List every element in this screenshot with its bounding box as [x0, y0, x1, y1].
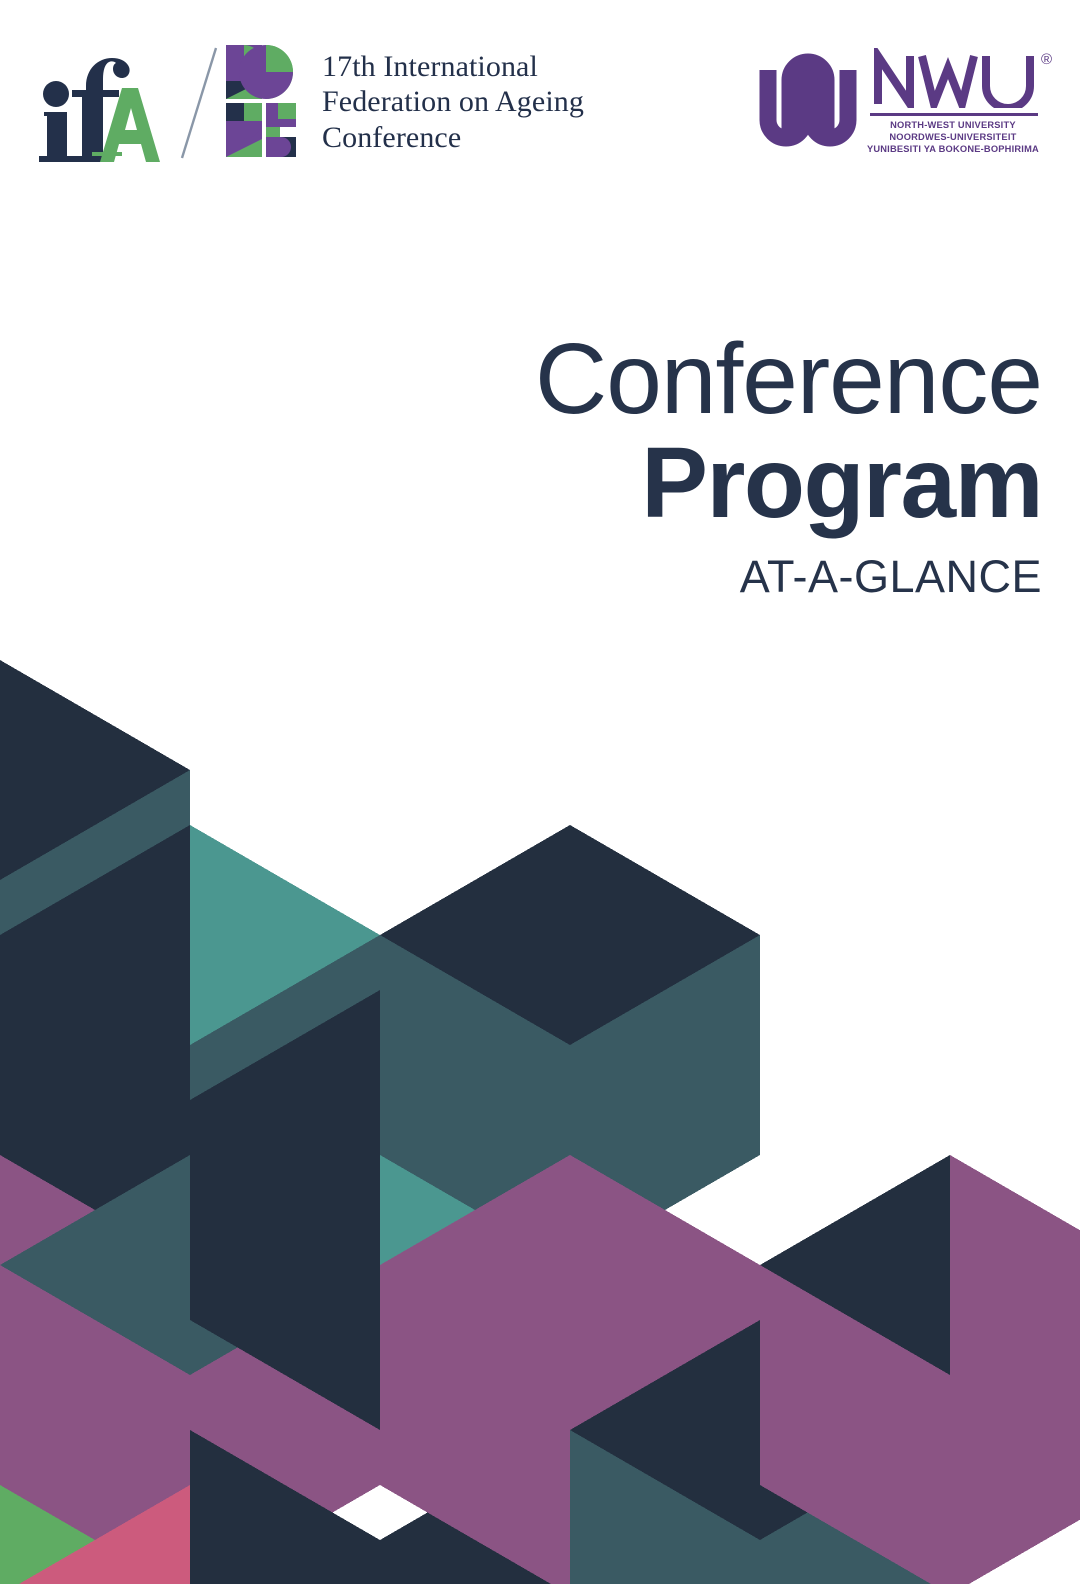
divider-slash-icon	[170, 42, 230, 162]
ifa-conference-title: 17th International Federation on Ageing …	[322, 49, 584, 154]
ifa-title-line-1: 17th International	[322, 49, 584, 84]
nwu-divider-rule	[870, 113, 1038, 116]
nwu-subtitle-line-2: NOORDWES-UNIVERSITEIT	[858, 132, 1048, 144]
page-header: 17th International Federation on Ageing …	[0, 0, 1080, 190]
nwu-wordmark	[870, 48, 1038, 108]
nwu-subtitle-line-1: NORTH-WEST UNIVERSITY	[858, 120, 1048, 132]
title-line-conference: Conference	[535, 330, 1042, 428]
nwu-subtitle: NORTH-WEST UNIVERSITY NOORDWES-UNIVERSIT…	[858, 120, 1048, 156]
title-subtitle-at-a-glance: AT-A-GLANCE	[535, 552, 1042, 602]
page-title: Conference Program AT-A-GLANCE	[535, 330, 1042, 602]
nwu-wordmark-group: ® NORTH-WEST UNIVERSITY NOORDWES-UNIVERS…	[870, 48, 1052, 156]
ifa-title-line-2: Federation on Ageing	[322, 84, 584, 119]
ifa-conference-logo[interactable]: 17th International Federation on Ageing …	[30, 42, 584, 162]
ifa-logo-mark	[30, 42, 170, 162]
title-line-program: Program	[535, 432, 1042, 534]
ifa-title-line-3: Conference	[322, 120, 584, 155]
nwu-subtitle-line-3: YUNIBESITI YA BOKONE-BOPHIRIMA	[858, 144, 1048, 156]
registered-trademark-icon: ®	[1041, 52, 1052, 67]
year-2025-mark	[226, 43, 308, 161]
cover-page: 17th International Federation on Ageing …	[0, 0, 1080, 1584]
nwu-university-logo[interactable]: ® NORTH-WEST UNIVERSITY NOORDWES-UNIVERS…	[756, 48, 1052, 156]
isometric-cube-pattern	[0, 0, 1080, 1584]
nwu-logo-mark	[756, 48, 860, 152]
